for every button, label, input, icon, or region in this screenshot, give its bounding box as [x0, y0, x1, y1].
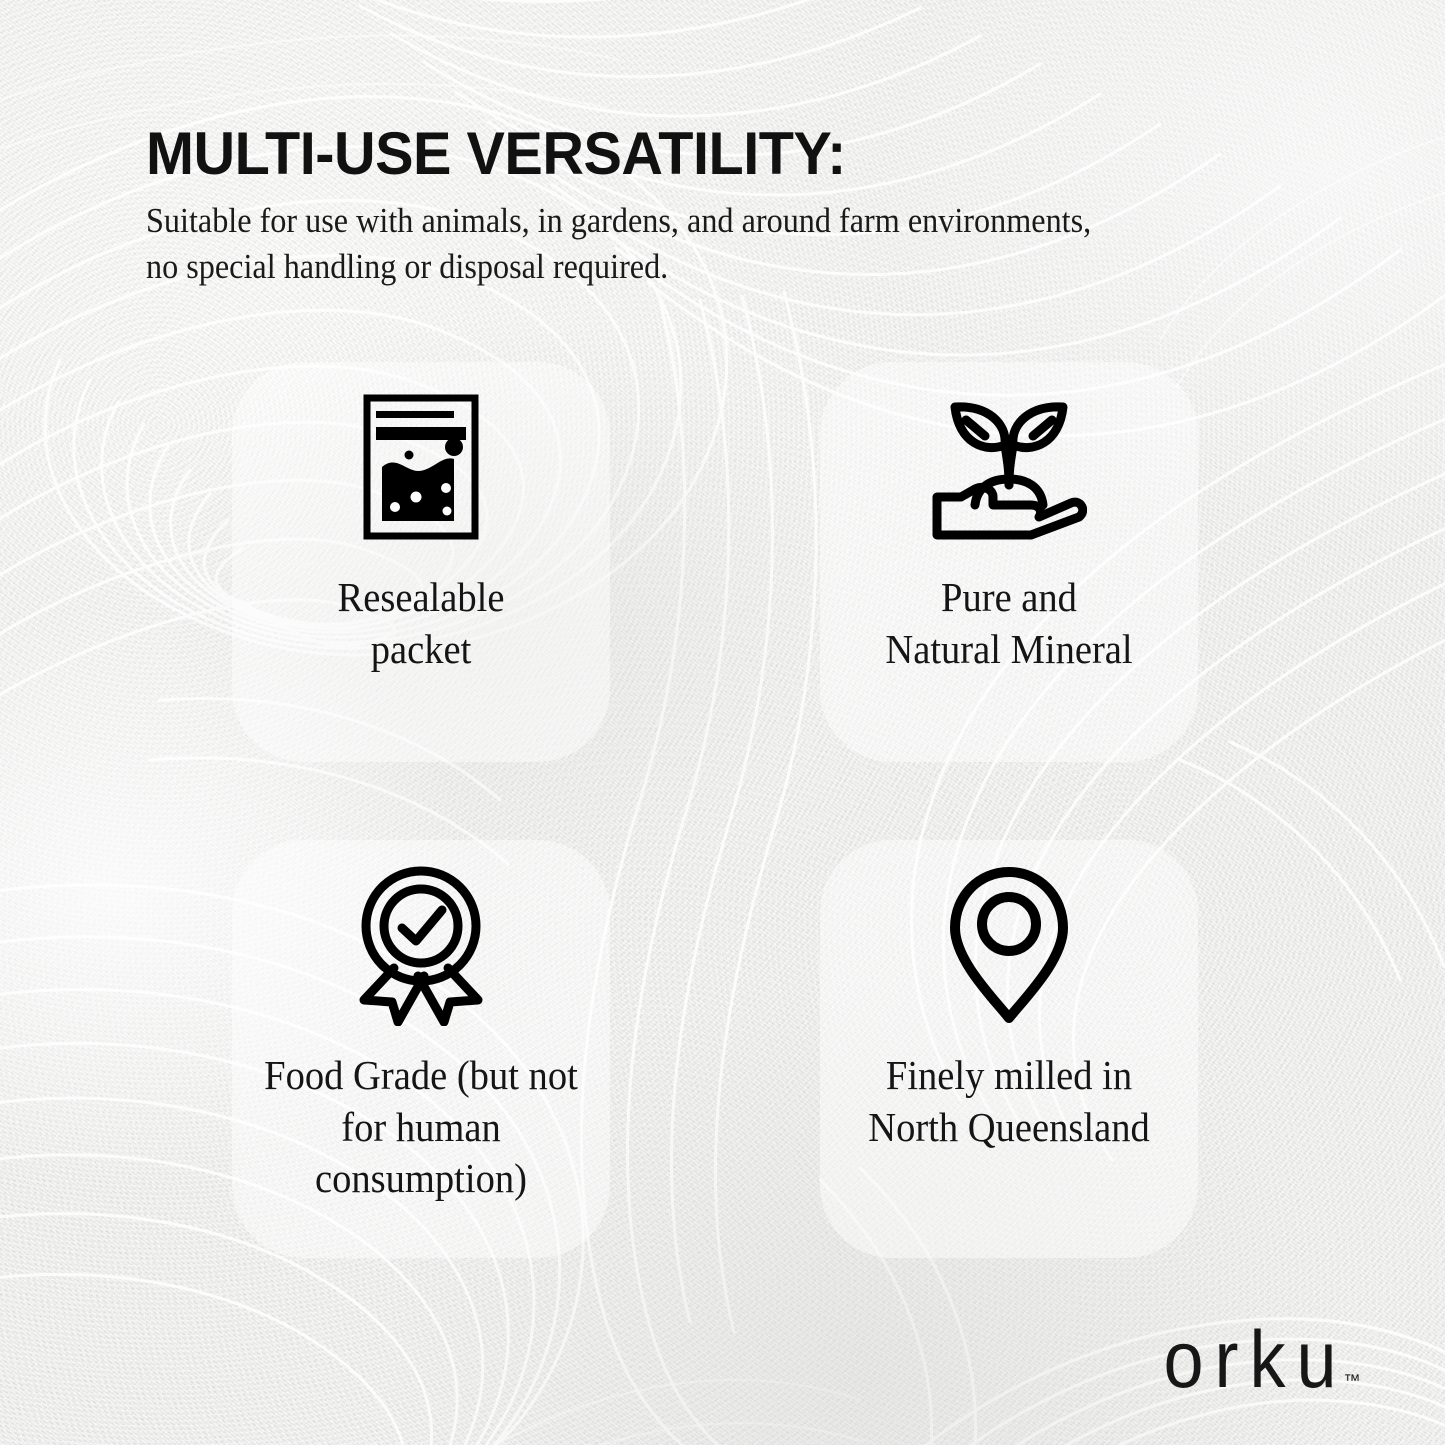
page-subtitle: Suitable for use with animals, in garden… [146, 198, 1232, 289]
resealable-packet-icon [232, 362, 610, 572]
feature-card-pure-natural-mineral: Pure and Natural Mineral [820, 362, 1198, 762]
feature-card-resealable-packet: Resealable packet [232, 362, 610, 762]
label-line-2: packet [249, 624, 593, 676]
page-title: MULTI-USE VERSATILITY: [146, 124, 846, 184]
feature-card-label: Pure and Natural Mineral [831, 572, 1186, 675]
brand-name: orku [1163, 1323, 1347, 1397]
label-line-1: Pure and [837, 572, 1181, 624]
map-pin-icon [820, 840, 1198, 1050]
subtitle-line-1: Suitable for use with animals, in garden… [146, 198, 1232, 244]
feature-card-finely-milled: Finely milled in North Queensland [820, 840, 1198, 1258]
brand-logo: orku ™ [1163, 1331, 1361, 1397]
content-layer: MULTI-USE VERSATILITY: Suitable for use … [0, 0, 1445, 1445]
feature-card-label: Food Grade (but not for human consumptio… [243, 1050, 598, 1205]
feature-grid: Resealable packet [232, 362, 1232, 1267]
subtitle-line-2: no special handling or disposal required… [146, 244, 1232, 290]
infographic-page: MULTI-USE VERSATILITY: Suitable for use … [0, 0, 1445, 1445]
feature-card-food-grade: Food Grade (but not for human consumptio… [232, 840, 610, 1258]
feature-card-label: Resealable packet [243, 572, 598, 675]
label-line-1: Finely milled in [837, 1050, 1181, 1102]
label-line-1: Resealable [249, 572, 593, 624]
award-ribbon-check-icon [232, 840, 610, 1050]
label-line-1: Food Grade (but not [249, 1050, 593, 1102]
label-line-2: Natural Mineral [837, 624, 1181, 676]
label-line-2: for human [249, 1102, 593, 1154]
hand-holding-sprout-icon [820, 362, 1198, 572]
feature-card-label: Finely milled in North Queensland [831, 1050, 1186, 1153]
label-line-3: consumption) [249, 1153, 593, 1205]
label-line-2: North Queensland [837, 1102, 1181, 1154]
